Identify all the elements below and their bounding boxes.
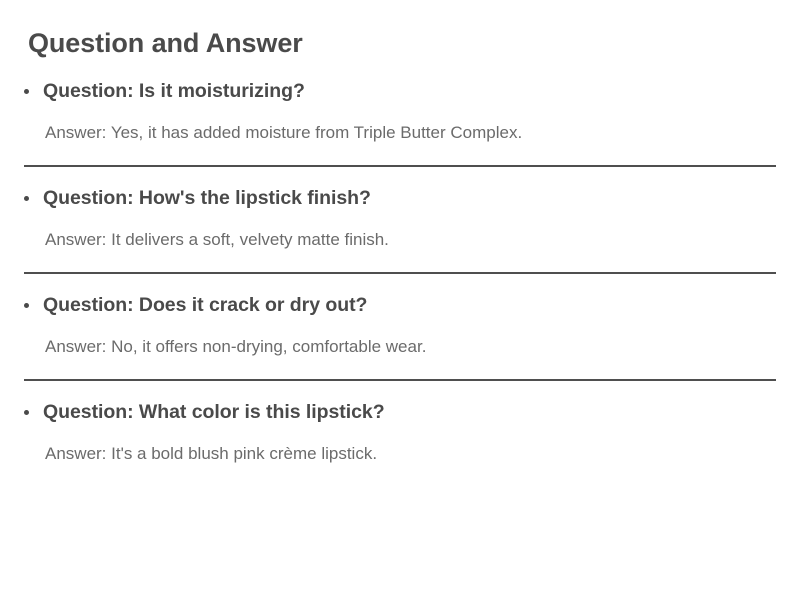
qa-page: Question and Answer Question: Is it mois… — [0, 0, 800, 598]
qa-list: Question: Is it moisturizing? Answer: Ye… — [0, 60, 800, 466]
answer-text: Answer: It delivers a soft, velvety matt… — [0, 228, 800, 252]
qa-item: Question: What color is this lipstick? A… — [0, 381, 800, 466]
block-spacer — [0, 359, 800, 379]
qa-item: Question: Does it crack or dry out? Answ… — [0, 274, 800, 379]
block-spacer — [0, 145, 800, 165]
question-text: Question: Is it moisturizing? — [43, 78, 305, 105]
question-row: Question: What color is this lipstick? — [0, 399, 800, 426]
qa-item: Question: Is it moisturizing? Answer: Ye… — [0, 60, 800, 165]
bullet-icon — [24, 89, 29, 94]
bullet-icon — [24, 196, 29, 201]
bullet-icon — [24, 303, 29, 308]
question-text: Question: What color is this lipstick? — [43, 399, 385, 426]
question-row: Question: Does it crack or dry out? — [0, 292, 800, 319]
page-title: Question and Answer — [0, 0, 800, 60]
answer-text: Answer: Yes, it has added moisture from … — [0, 121, 800, 145]
answer-text: Answer: No, it offers non-drying, comfor… — [0, 335, 800, 359]
block-spacer — [0, 252, 800, 272]
question-text: Question: How's the lipstick finish? — [43, 185, 371, 212]
qa-item: Question: How's the lipstick finish? Ans… — [0, 167, 800, 272]
question-text: Question: Does it crack or dry out? — [43, 292, 367, 319]
bullet-icon — [24, 410, 29, 415]
question-row: Question: Is it moisturizing? — [0, 78, 800, 105]
question-row: Question: How's the lipstick finish? — [0, 185, 800, 212]
answer-text: Answer: It's a bold blush pink crème lip… — [0, 442, 800, 466]
